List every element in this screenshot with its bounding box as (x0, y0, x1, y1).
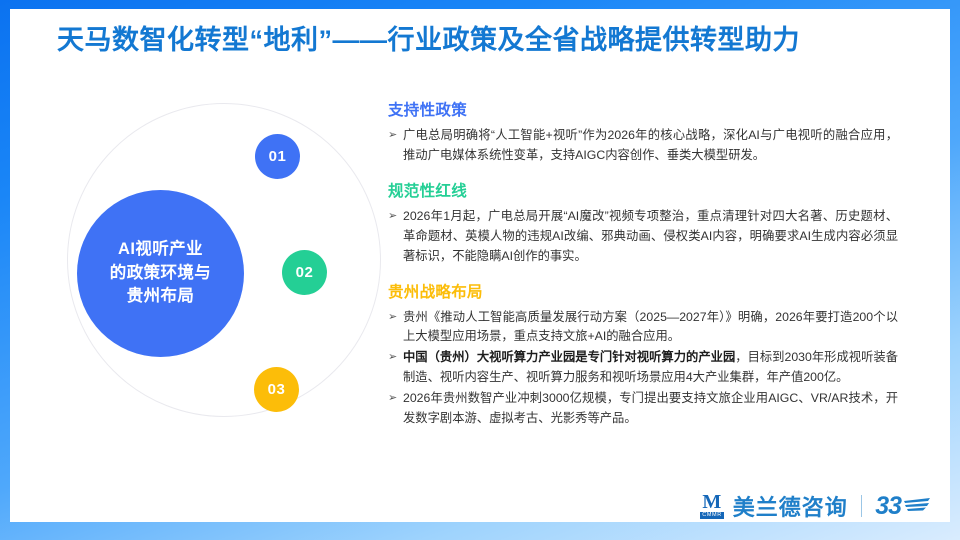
slide-canvas: 天马数智化转型“地利”——行业政策及全省战略提供转型助力 AI视听产业 的政策环… (0, 0, 960, 540)
anniversary-number: 33 (875, 492, 901, 521)
bullet-item: ➢ 中国（贵州）大视听算力产业园是专门针对视听算力的产业园，目标到2030年形成… (388, 348, 898, 388)
section-supportive-policy: 支持性政策 ➢ 广电总局明确将“人工智能+视听”作为2026年的核心战略，深化A… (388, 98, 898, 166)
diagram-core-label: AI视听产业 的政策环境与 贵州布局 (110, 238, 211, 310)
arrow-bullet-icon: ➢ (388, 207, 403, 227)
cmmr-monogram-icon: M CMMR (700, 493, 724, 519)
bullet-text-emphasis: 中国（贵州）大视听算力产业园是专门针对视听算力的产业园 (403, 350, 735, 364)
circular-diagram: AI视听产业 的政策环境与 贵州布局 01 02 03 (50, 95, 350, 440)
diagram-badge-03[interactable]: 03 (254, 367, 299, 412)
section-heading: 贵州战略布局 (388, 280, 898, 302)
logo-divider (861, 495, 862, 517)
arrow-bullet-icon: ➢ (388, 389, 403, 409)
arrow-bullet-icon: ➢ (388, 308, 403, 328)
section-heading: 支持性政策 (388, 98, 898, 120)
bullet-item: ➢ 广电总局明确将“人工智能+视听”作为2026年的核心战略，深化AI与广电视听… (388, 126, 898, 166)
wing-icon (902, 496, 932, 516)
bullet-text-mixed: 中国（贵州）大视听算力产业园是专门针对视听算力的产业园，目标到2030年形成视听… (403, 348, 898, 388)
bullet-text: 2026年1月起，广电总局开展“AI魔改”视频专项整治，重点清理针对四大名著、历… (403, 207, 898, 267)
badge-02-label: 02 (296, 264, 314, 281)
section-guizhou-strategy: 贵州战略布局 ➢ 贵州《推动人工智能高质量发展行动方案（2025—2027年）》… (388, 280, 898, 429)
badge-03-label: 03 (268, 381, 286, 398)
bullet-text: 广电总局明确将“人工智能+视听”作为2026年的核心战略，深化AI与广电视听的融… (403, 126, 898, 166)
section-heading: 规范性红线 (388, 179, 898, 201)
anniversary-mark: 33 (875, 492, 932, 521)
diagram-badge-01[interactable]: 01 (255, 134, 300, 179)
footer-logo: M CMMR 美兰德咨询 33 (700, 490, 932, 522)
badge-01-label: 01 (269, 148, 287, 165)
bullet-text: 2026年贵州数智产业冲刺3000亿规模，专门提出要支持文旅企业用AIGC、VR… (403, 389, 898, 429)
arrow-bullet-icon: ➢ (388, 348, 403, 368)
content-column: 支持性政策 ➢ 广电总局明确将“人工智能+视听”作为2026年的核心战略，深化A… (388, 98, 898, 442)
section-regulatory-redline: 规范性红线 ➢ 2026年1月起，广电总局开展“AI魔改”视频专项整治，重点清理… (388, 179, 898, 267)
monogram-letter: M (702, 493, 721, 512)
bullet-item: ➢ 贵州《推动人工智能高质量发展行动方案（2025—2027年）》明确，2026… (388, 308, 898, 348)
bullet-text: 贵州《推动人工智能高质量发展行动方案（2025—2027年）》明确，2026年要… (403, 308, 898, 348)
diagram-core-circle: AI视听产业 的政策环境与 贵州布局 (77, 190, 244, 357)
diagram-badge-02[interactable]: 02 (282, 250, 327, 295)
page-title: 天马数智化转型“地利”——行业政策及全省战略提供转型助力 (57, 18, 800, 57)
brand-name: 美兰德咨询 (733, 490, 848, 522)
bullet-item: ➢ 2026年贵州数智产业冲刺3000亿规模，专门提出要支持文旅企业用AIGC、… (388, 389, 898, 429)
arrow-bullet-icon: ➢ (388, 126, 403, 146)
bullet-item: ➢ 2026年1月起，广电总局开展“AI魔改”视频专项整治，重点清理针对四大名著… (388, 207, 898, 267)
monogram-subtext: CMMR (700, 512, 724, 519)
